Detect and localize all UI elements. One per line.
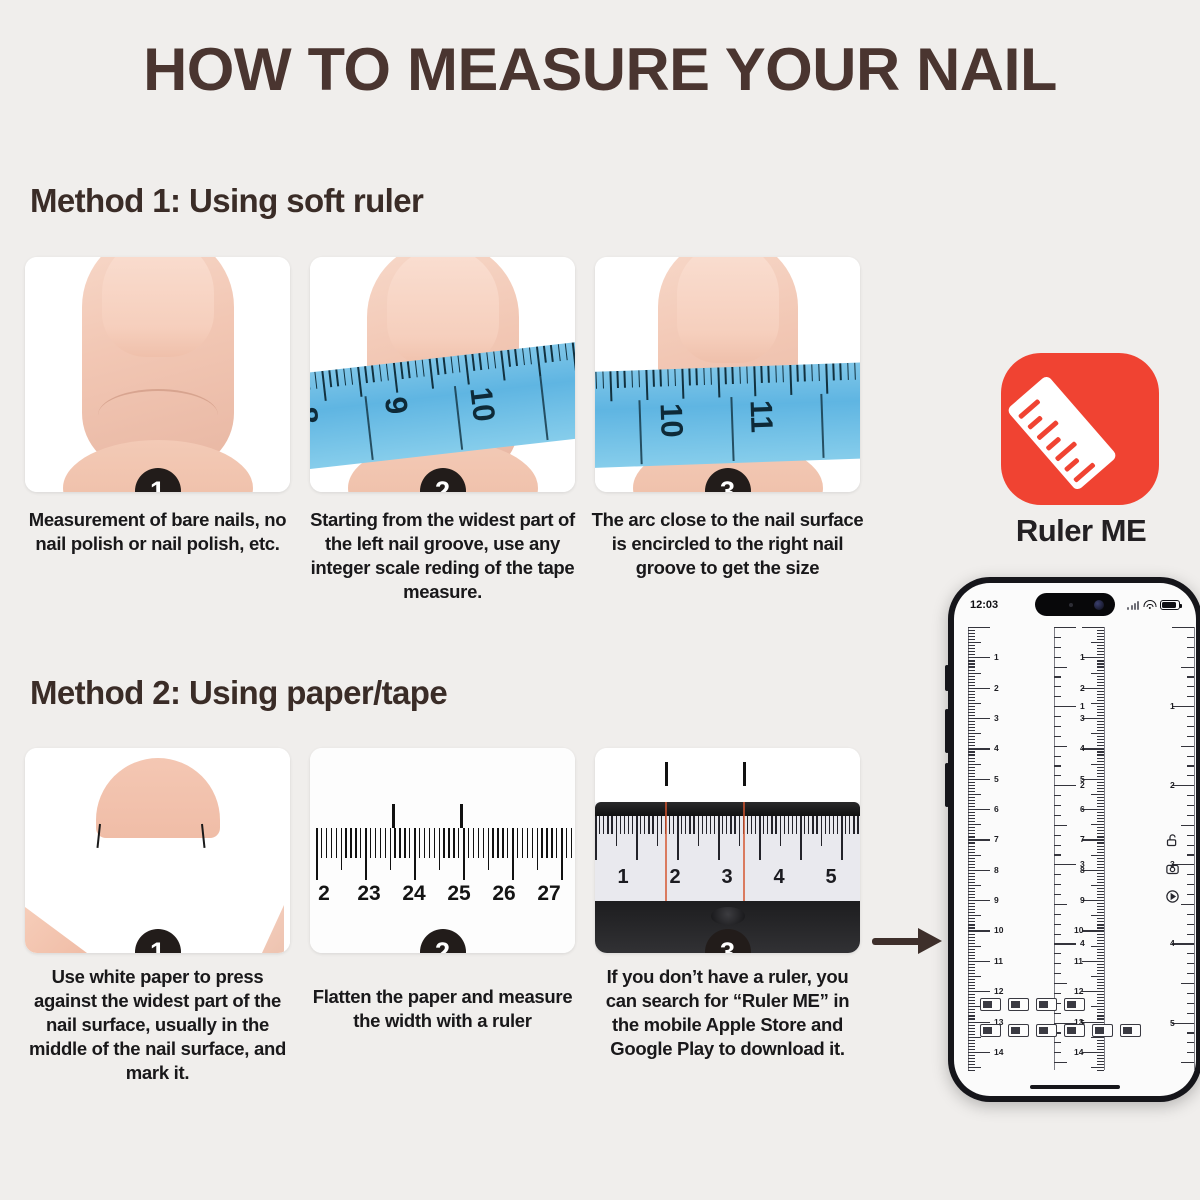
ruler-number: 25: [447, 882, 470, 906]
ruler-number: 3: [721, 866, 732, 889]
method-1-step-3: 9 10 11 3: [595, 257, 860, 492]
pen-mark-right: [460, 804, 463, 828]
ruler-number: 14: [994, 1047, 1003, 1057]
phone-mute-switch[interactable]: [945, 665, 949, 691]
ruler-number: 8: [994, 865, 999, 875]
ruler-number: 7: [994, 834, 999, 844]
ruler-number: 2: [318, 882, 330, 906]
tape-number: 10: [653, 403, 690, 439]
method-2-step-1-caption: Use white paper to press against the wid…: [20, 965, 295, 1085]
ruler-number: 24: [402, 882, 425, 906]
ruler-number: 2: [1170, 780, 1175, 790]
record-icon[interactable]: [1165, 889, 1180, 904]
paper-ruler-measurement-photo: 22324252627 2: [310, 748, 575, 953]
ruler-number: 23: [357, 882, 380, 906]
method-1-step-1-caption: Measurement of bare nails, no nail polis…: [20, 508, 295, 556]
ruler-number: 6: [994, 804, 999, 814]
measure-keys-row-2: [980, 1021, 1141, 1040]
camera-icon[interactable]: [1165, 861, 1180, 876]
measure-key[interactable]: [1036, 1024, 1057, 1037]
unlock-icon[interactable]: [1165, 833, 1180, 848]
arrow-right-icon: [872, 928, 948, 954]
ruler-number: 2: [994, 683, 999, 693]
phone-mockup: 12:03 1234567891011121314 12345678910111…: [948, 577, 1200, 1102]
page-title: HOW TO MEASURE YOUR NAIL: [0, 40, 1200, 100]
phone-volume-down-button[interactable]: [945, 763, 949, 807]
measure-key[interactable]: [1036, 998, 1057, 1011]
method-2-heading: Method 2: Using paper/tape: [30, 674, 447, 712]
method-1-step-2-caption: Starting from the widest part of the lef…: [305, 508, 580, 604]
infographic-page: HOW TO MEASURE YOUR NAIL Method 1: Using…: [0, 0, 1200, 1200]
pen-mark-left: [665, 762, 668, 786]
ruler-number: 2: [1080, 780, 1085, 790]
method-2-step-2-caption: Flatten the paper and measure the width …: [305, 985, 580, 1033]
finger-wrapped-tape-measure-photo: 9 10 11 3: [595, 257, 860, 492]
ruler-number: 5: [1170, 1018, 1175, 1028]
ruler-number: 5: [994, 774, 999, 784]
ruler-number: 5: [825, 866, 836, 889]
method-2-step-2: 22324252627 2: [310, 748, 575, 953]
pen-mark-left: [392, 804, 395, 828]
pen-mark-right: [743, 762, 746, 786]
method-2-step-3-caption: If you don’t have a ruler, you can searc…: [590, 965, 865, 1061]
ruler-number: 4: [773, 866, 784, 889]
measure-key[interactable]: [1064, 1024, 1085, 1037]
tape-number: 8: [310, 405, 325, 426]
dynamic-island: [1035, 593, 1115, 616]
app-name-label: Ruler ME: [993, 513, 1169, 549]
battery-icon: [1160, 600, 1180, 610]
ruler-number: 3: [994, 713, 999, 723]
status-time: 12:03: [970, 599, 998, 611]
ruler-number: 3: [1080, 859, 1085, 869]
tape-number: 10: [462, 385, 502, 423]
nail-pressed-on-white-paper-photo: 1: [25, 748, 290, 953]
ruler-number: 1: [994, 652, 999, 662]
measure-key[interactable]: [980, 998, 1001, 1011]
ruler-number: 9: [994, 895, 999, 905]
ruler-number: 4: [1170, 938, 1175, 948]
measure-key[interactable]: [980, 1024, 1001, 1037]
measure-key[interactable]: [1120, 1024, 1141, 1037]
ruler-number: 1: [1170, 701, 1175, 711]
ruler-app-icon[interactable]: [1001, 353, 1159, 505]
ruler-app-block: Ruler ME: [993, 353, 1169, 513]
ruler-number: 26: [492, 882, 515, 906]
measure-key[interactable]: [1092, 1024, 1113, 1037]
home-indicator[interactable]: [1030, 1085, 1120, 1089]
method-2-step-3: 12345 3: [595, 748, 860, 953]
ruler-number: 4: [1080, 938, 1085, 948]
measure-key[interactable]: [1008, 1024, 1029, 1037]
measure-key[interactable]: [1008, 998, 1029, 1011]
ruler-number: 27: [537, 882, 560, 906]
ruler-number: 11: [994, 956, 1003, 966]
measure-keys-row-1: [980, 995, 1085, 1014]
tape-measure: 9 10 11: [595, 361, 860, 468]
ruler-number: 2: [669, 866, 680, 889]
method-1-step-1: 1: [25, 257, 290, 492]
ruler-number: 10: [994, 925, 1003, 935]
cellular-signal-icon: [1127, 601, 1139, 610]
finger-with-tape-measure-photo: 8 9 10 2: [310, 257, 575, 492]
ruler-number: 1: [617, 866, 628, 889]
method-2-step-1: 1: [25, 748, 290, 953]
method-1-step-3-caption: The arc close to the nail surface is enc…: [590, 508, 865, 580]
measure-key[interactable]: [1064, 998, 1085, 1011]
method-1-heading: Method 1: Using soft ruler: [30, 182, 423, 220]
ruler-number: 1: [1080, 701, 1085, 711]
phone-volume-up-button[interactable]: [945, 709, 949, 753]
tape-number: 9: [595, 406, 599, 424]
tape-number: 9: [377, 395, 415, 416]
phone-screen-ruler-photo: 12345 3: [595, 748, 860, 953]
phone-screen: 12:03 1234567891011121314 12345678910111…: [954, 583, 1196, 1096]
wifi-icon: [1143, 600, 1156, 610]
tape-number: 11: [743, 399, 780, 433]
ruler-glyph: [1006, 375, 1118, 492]
app-tool-buttons: [1165, 833, 1180, 904]
ruler-number: 4: [994, 743, 999, 753]
method-1-step-2: 8 9 10 2: [310, 257, 575, 492]
bare-fingernail-photo: 1: [25, 257, 290, 492]
